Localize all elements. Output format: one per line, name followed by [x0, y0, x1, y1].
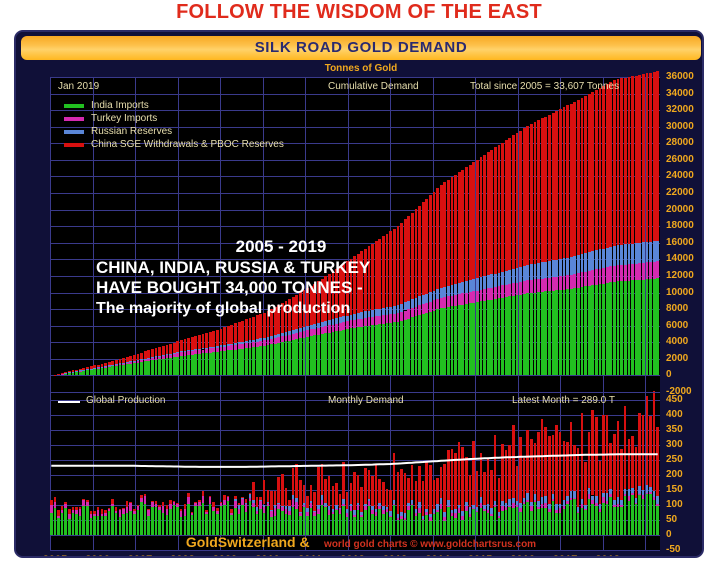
legend-item-2: Russian Reserves	[64, 125, 284, 138]
cumulative-segment	[166, 345, 169, 355]
cumulative-segment	[144, 361, 147, 375]
upper-chart-cumulative-demand: Jan 2019 Cumulative Demand Total since 2…	[50, 77, 660, 392]
cumulative-segment	[129, 364, 132, 376]
cumulative-column	[599, 77, 602, 392]
cumulative-column	[386, 77, 389, 392]
cumulative-segment	[476, 160, 479, 279]
cumulative-segment	[573, 288, 576, 375]
cumulative-segment	[342, 330, 345, 376]
legend-label: Russian Reserves	[91, 126, 172, 137]
cumulative-column	[451, 77, 454, 392]
cumulative-column	[631, 77, 634, 392]
cumulative-segment	[133, 361, 136, 362]
cumulative-segment	[90, 366, 93, 368]
footer-credit: world gold charts © www.goldchartsrus.co…	[324, 539, 536, 550]
cumulative-column	[602, 77, 605, 392]
cumulative-column	[653, 77, 656, 392]
cumulative-segment	[295, 339, 298, 375]
cumulative-segment	[523, 266, 526, 281]
cumulative-column	[411, 77, 414, 392]
cumulative-segment	[476, 302, 479, 375]
cumulative-segment	[573, 256, 576, 274]
cumulative-segment	[115, 364, 118, 366]
cumulative-segment	[256, 342, 259, 347]
cumulative-segment	[205, 348, 208, 349]
cumulative-segment	[151, 349, 154, 357]
cumulative-segment	[494, 274, 497, 287]
cumulative-segment	[498, 145, 501, 273]
cumulative-segment	[433, 311, 436, 376]
cumulative-segment	[483, 155, 486, 277]
cumulative-segment	[617, 79, 620, 245]
cumulative-segment	[263, 346, 266, 376]
cumulative-segment	[544, 291, 547, 375]
cumulative-segment	[93, 365, 96, 367]
cumulative-segment	[393, 322, 396, 375]
cumulative-column	[646, 77, 649, 392]
cumulative-segment	[642, 242, 645, 262]
cumulative-segment	[577, 273, 580, 287]
cumulative-column	[285, 77, 288, 392]
cumulative-column	[487, 77, 490, 392]
cumulative-column	[407, 77, 410, 392]
cumulative-segment	[317, 323, 320, 328]
cumulative-segment	[570, 289, 573, 376]
cumulative-segment	[230, 325, 233, 344]
cumulative-segment	[328, 320, 331, 325]
cumulative-segment	[512, 269, 515, 284]
cumulative-segment	[108, 367, 111, 375]
cumulative-segment	[581, 254, 584, 272]
cumulative-segment	[140, 359, 143, 360]
cumulative-segment	[620, 265, 623, 281]
cumulative-segment	[173, 354, 176, 357]
y-tick-label: 22000	[666, 187, 694, 198]
cumulative-segment	[256, 315, 259, 339]
cumulative-segment	[476, 291, 479, 303]
cumulative-column	[548, 77, 551, 392]
cumulative-segment	[609, 282, 612, 375]
cumulative-segment	[620, 245, 623, 265]
cumulative-column	[566, 77, 569, 392]
cumulative-segment	[256, 339, 259, 341]
cumulative-segment	[64, 373, 67, 375]
cumulative-segment	[404, 320, 407, 376]
cumulative-segment	[313, 335, 316, 375]
cumulative-column	[54, 77, 57, 392]
cumulative-segment	[252, 347, 255, 375]
cumulative-segment	[313, 324, 316, 328]
y-tick-label: 100	[666, 499, 683, 510]
cumulative-segment	[212, 347, 215, 348]
cumulative-segment	[137, 354, 140, 360]
cumulative-segment	[613, 246, 616, 266]
cumulative-segment	[137, 361, 140, 363]
y-tick-label: 250	[666, 454, 683, 465]
cumulative-segment	[436, 309, 439, 375]
cumulative-column	[613, 77, 616, 392]
cumulative-segment	[573, 102, 576, 256]
cumulative-column	[299, 77, 302, 392]
cumulative-column	[443, 77, 446, 392]
y-tick-label: 8000	[666, 303, 688, 314]
cumulative-segment	[563, 290, 566, 376]
cumulative-segment	[624, 265, 627, 281]
cumulative-segment	[505, 271, 508, 285]
cumulative-segment	[526, 293, 529, 375]
cumulative-column	[400, 77, 403, 392]
cumulative-column	[295, 77, 298, 392]
cumulative-segment	[548, 291, 551, 375]
cumulative-segment	[259, 338, 262, 341]
annotation-block: 2005 - 2019 CHINA, INDIA, RUSSIA & TURKE…	[96, 237, 456, 319]
cumulative-segment	[490, 288, 493, 300]
cumulative-segment	[480, 157, 483, 277]
cumulative-segment	[176, 353, 179, 356]
cumulative-segment	[505, 285, 508, 297]
cumulative-segment	[155, 348, 158, 356]
cumulative-segment	[563, 107, 566, 258]
cumulative-segment	[101, 364, 104, 367]
cumulative-segment	[588, 271, 591, 286]
cumulative-segment	[530, 124, 533, 264]
cumulative-segment	[241, 344, 244, 349]
cumulative-segment	[559, 109, 562, 259]
cumulative-segment	[407, 319, 410, 376]
cumulative-segment	[230, 344, 233, 346]
cumulative-segment	[234, 345, 237, 350]
y-tick-label: 200	[666, 469, 683, 480]
cumulative-segment	[461, 170, 464, 282]
cumulative-segment	[646, 242, 649, 263]
cumulative-segment	[353, 328, 356, 376]
cumulative-segment	[418, 315, 421, 375]
cumulative-segment	[249, 343, 252, 348]
cumulative-segment	[599, 88, 602, 250]
cumulative-segment	[490, 300, 493, 376]
cumulative-segment	[158, 359, 161, 375]
x-tick-label-2012: 2012	[332, 554, 374, 558]
upper-date-label: Jan 2019	[58, 81, 99, 92]
cumulative-segment	[537, 120, 540, 263]
cumulative-segment	[227, 350, 230, 375]
cumulative-segment	[140, 360, 143, 362]
cumulative-segment	[541, 262, 544, 278]
cumulative-segment	[119, 364, 122, 366]
cumulative-column	[490, 77, 493, 392]
cumulative-segment	[595, 90, 598, 251]
cumulative-segment	[292, 330, 295, 334]
cumulative-segment	[180, 340, 183, 351]
cumulative-segment	[461, 293, 464, 304]
cumulative-segment	[252, 342, 255, 347]
cumulative-segment	[238, 344, 241, 349]
cumulative-segment	[599, 249, 602, 268]
cumulative-segment	[357, 327, 360, 375]
y-tick-label: 20000	[666, 204, 694, 215]
cumulative-segment	[519, 295, 522, 376]
y-tick-label: 32000	[666, 104, 694, 115]
cumulative-segment	[512, 296, 515, 376]
cumulative-column	[418, 77, 421, 392]
cumulative-column	[422, 77, 425, 392]
cumulative-column	[458, 77, 461, 392]
cumulative-segment	[82, 370, 85, 371]
cumulative-column	[559, 77, 562, 392]
cumulative-segment	[155, 356, 158, 357]
cumulative-segment	[216, 348, 219, 352]
cumulative-segment	[465, 304, 468, 375]
cumulative-segment	[267, 345, 270, 375]
cumulative-segment	[270, 339, 273, 344]
cumulative-segment	[133, 361, 136, 363]
cumulative-segment	[656, 241, 659, 262]
cumulative-column	[378, 77, 381, 392]
chart-panel: SILK ROAD GOLD DEMAND Tonnes of Gold Jan…	[14, 30, 704, 558]
y-tick-label: 2000	[666, 353, 688, 364]
cumulative-column	[321, 77, 324, 392]
cumulative-segment	[144, 351, 147, 358]
cumulative-segment	[635, 280, 638, 375]
cumulative-segment	[378, 324, 381, 375]
cumulative-segment	[274, 335, 277, 338]
upper-center-label: Cumulative Demand	[328, 81, 419, 92]
cumulative-column	[512, 77, 515, 392]
cumulative-segment	[209, 348, 212, 352]
cumulative-column	[642, 77, 645, 392]
cumulative-segment	[559, 276, 562, 290]
cumulative-column	[454, 77, 457, 392]
cumulative-segment	[202, 334, 205, 348]
legend-label: Turkey Imports	[91, 113, 157, 124]
cumulative-segment	[310, 336, 313, 375]
cumulative-segment	[656, 278, 659, 375]
cumulative-segment	[638, 263, 641, 280]
cumulative-column	[360, 77, 363, 392]
panel-title: SILK ROAD GOLD DEMAND	[21, 36, 701, 60]
cumulative-column	[526, 77, 529, 392]
cumulative-segment	[285, 341, 288, 375]
cumulative-segment	[609, 266, 612, 282]
cumulative-segment	[494, 287, 497, 299]
cumulative-column	[404, 77, 407, 392]
cumulative-column	[368, 77, 371, 392]
annotation-line-1: 2005 - 2019	[96, 237, 456, 258]
cumulative-segment	[82, 371, 85, 376]
cumulative-segment	[122, 358, 125, 363]
cumulative-segment	[584, 96, 587, 254]
cumulative-segment	[552, 113, 555, 260]
cumulative-segment	[184, 339, 187, 351]
cumulative-segment	[252, 340, 255, 342]
cumulative-segment	[573, 274, 576, 288]
cumulative-segment	[72, 370, 75, 371]
cumulative-segment	[104, 366, 107, 367]
cumulative-column	[541, 77, 544, 392]
cumulative-segment	[595, 250, 598, 269]
cumulative-segment	[259, 341, 262, 346]
cumulative-segment	[534, 279, 537, 292]
cumulative-segment	[397, 322, 400, 375]
cumulative-segment	[602, 268, 605, 284]
cumulative-segment	[617, 245, 620, 265]
cumulative-segment	[176, 341, 179, 352]
cumulative-segment	[508, 138, 511, 270]
cumulative-segment	[581, 272, 584, 287]
cumulative-segment	[638, 243, 641, 263]
cumulative-segment	[588, 286, 591, 376]
cumulative-segment	[119, 365, 122, 375]
cumulative-segment	[324, 326, 327, 333]
cumulative-segment	[79, 371, 82, 375]
cumulative-column	[364, 77, 367, 392]
cumulative-segment	[321, 334, 324, 375]
cumulative-segment	[646, 262, 649, 279]
cumulative-segment	[534, 122, 537, 264]
cumulative-column	[649, 77, 652, 392]
cumulative-segment	[187, 351, 190, 355]
cumulative-segment	[458, 283, 461, 294]
cumulative-segment	[498, 298, 501, 375]
cumulative-column	[461, 77, 464, 392]
cumulative-segment	[295, 329, 298, 333]
cumulative-segment	[656, 261, 659, 278]
cumulative-segment	[303, 327, 306, 331]
cumulative-segment	[617, 265, 620, 281]
cumulative-segment	[357, 319, 360, 327]
cumulative-segment	[631, 244, 634, 264]
cumulative-segment	[216, 352, 219, 376]
y-tick-label: 0	[666, 369, 672, 380]
legend-item-1: Turkey Imports	[64, 112, 284, 125]
cumulative-segment	[115, 360, 118, 364]
cumulative-segment	[544, 117, 547, 262]
cumulative-segment	[516, 295, 519, 375]
cumulative-segment	[158, 356, 161, 357]
cumulative-segment	[310, 325, 313, 329]
cumulative-segment	[245, 348, 248, 375]
cumulative-segment	[638, 280, 641, 376]
cumulative-segment	[140, 362, 143, 375]
cumulative-segment	[68, 373, 71, 376]
cumulative-column	[523, 77, 526, 392]
cumulative-segment	[653, 279, 656, 376]
cumulative-segment	[483, 301, 486, 376]
cumulative-segment	[306, 326, 309, 330]
cumulative-segment	[541, 292, 544, 376]
cumulative-segment	[628, 281, 631, 376]
cumulative-segment	[577, 288, 580, 376]
cumulative-segment	[249, 348, 252, 376]
cumulative-segment	[104, 368, 107, 376]
cumulative-segment	[288, 331, 291, 335]
cumulative-segment	[220, 345, 223, 347]
cumulative-segment	[119, 359, 122, 364]
cumulative-column	[57, 77, 60, 392]
y-tick-label: 300	[666, 439, 683, 450]
cumulative-segment	[303, 331, 306, 337]
cumulative-segment	[400, 321, 403, 376]
cumulative-segment	[519, 267, 522, 282]
lower-center-label: Monthly Demand	[328, 395, 404, 406]
cumulative-segment	[223, 351, 226, 375]
cumulative-column	[635, 77, 638, 392]
cumulative-segment	[230, 350, 233, 375]
cumulative-segment	[505, 140, 508, 271]
cumulative-segment	[75, 371, 78, 372]
cumulative-segment	[534, 264, 537, 280]
cumulative-segment	[360, 327, 363, 376]
cumulative-segment	[339, 323, 342, 331]
cumulative-segment	[321, 327, 324, 334]
cumulative-segment	[151, 358, 154, 361]
cumulative-segment	[285, 332, 288, 335]
cumulative-column	[577, 77, 580, 392]
cumulative-segment	[129, 362, 132, 364]
cumulative-segment	[234, 350, 237, 376]
cumulative-segment	[624, 244, 627, 264]
cumulative-segment	[642, 74, 645, 242]
cumulative-column	[440, 77, 443, 392]
cumulative-column	[346, 77, 349, 392]
legend-swatch-china	[64, 143, 84, 147]
cumulative-segment	[537, 279, 540, 292]
cumulative-segment	[544, 278, 547, 291]
cumulative-segment	[624, 281, 627, 376]
cumulative-column	[306, 77, 309, 392]
cumulative-segment	[281, 336, 284, 342]
cumulative-segment	[75, 372, 78, 376]
cumulative-segment	[169, 354, 172, 355]
x-tick-label-2007: 2007	[119, 554, 161, 558]
cumulative-segment	[234, 343, 237, 345]
cumulative-segment	[512, 135, 515, 268]
cumulative-segment	[599, 284, 602, 375]
cumulative-segment	[313, 329, 316, 336]
cumulative-segment	[469, 292, 472, 303]
panel-title-bar: SILK ROAD GOLD DEMAND	[21, 36, 701, 60]
cumulative-segment	[259, 346, 262, 375]
cumulative-segment	[411, 317, 414, 375]
cumulative-segment	[86, 369, 89, 370]
cumulative-segment	[530, 264, 533, 280]
cumulative-segment	[93, 369, 96, 375]
cumulative-segment	[523, 281, 526, 294]
cumulative-segment	[241, 321, 244, 342]
y-tick-label: 50	[666, 514, 677, 525]
cumulative-segment	[537, 263, 540, 279]
cumulative-segment	[631, 264, 634, 281]
cumulative-segment	[212, 352, 215, 375]
cumulative-segment	[184, 356, 187, 376]
cumulative-segment	[606, 248, 609, 268]
chart-separator	[50, 392, 660, 393]
cumulative-segment	[548, 115, 551, 261]
cumulative-segment	[552, 277, 555, 291]
cumulative-segment	[566, 289, 569, 375]
cumulative-segment	[505, 297, 508, 375]
cumulative-segment	[270, 344, 273, 375]
cumulative-segment	[570, 104, 573, 257]
cumulative-segment	[267, 340, 270, 345]
cumulative-column	[339, 77, 342, 392]
cumulative-segment	[342, 322, 345, 330]
cumulative-segment	[642, 263, 645, 280]
cumulative-segment	[371, 325, 374, 375]
cumulative-segment	[609, 82, 612, 247]
cumulative-segment	[523, 294, 526, 375]
cumulative-segment	[205, 349, 208, 353]
